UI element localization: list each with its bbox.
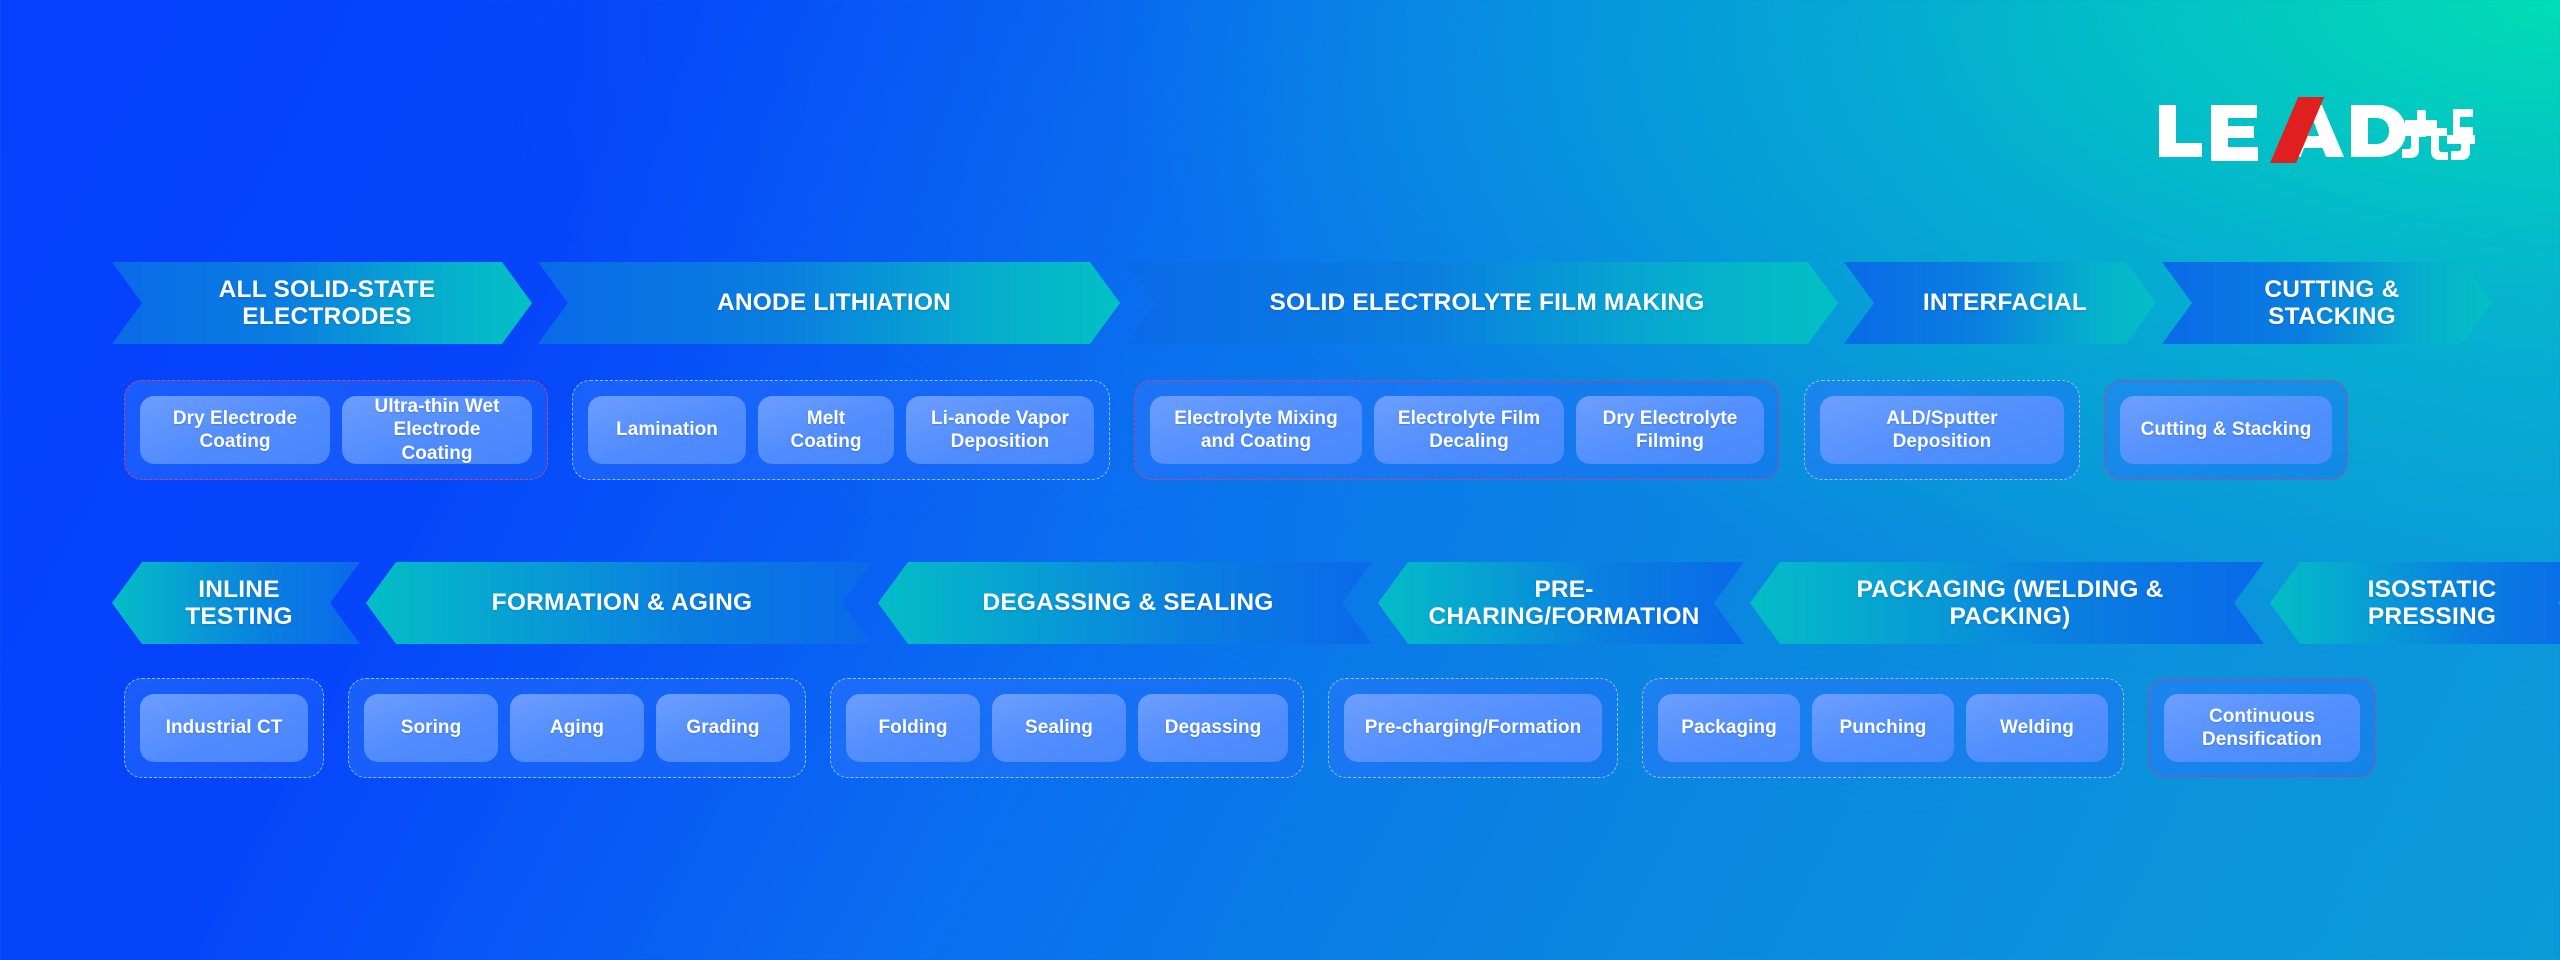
- stage-label: CUTTING & STACKING: [2208, 276, 2456, 331]
- process-card-label: Aging: [550, 716, 604, 739]
- process-card-folding[interactable]: Folding: [846, 694, 980, 762]
- process-card-label: Pre-charging/Formation: [1365, 716, 1581, 739]
- process-card-label: Lamination: [616, 418, 718, 441]
- process-group-packaging-welding-packing: PackagingPunchingWelding: [1642, 678, 2124, 778]
- process-group-solid-electrolyte-film-making: Electrolyte Mixing and CoatingElectrolyt…: [1134, 380, 1780, 480]
- process-card-cutting-stacking[interactable]: Cutting & Stacking: [2120, 396, 2332, 464]
- process-group-anode-lithiation: LaminationMelt CoatingLi-anode Vapor Dep…: [572, 380, 1110, 480]
- process-group-formation-aging: SoringAgingGrading: [348, 678, 806, 778]
- process-card-label: Welding: [2000, 716, 2074, 739]
- process-card-electrolyte-mixing-and-coating[interactable]: Electrolyte Mixing and Coating: [1150, 396, 1362, 464]
- stage-label: PRE-CHARING/FORMATION: [1424, 576, 1704, 631]
- process-card-label: Li-anode Vapor Deposition: [931, 407, 1069, 453]
- process-card-industrial-ct[interactable]: Industrial CT: [140, 694, 308, 762]
- process-card-welding[interactable]: Welding: [1966, 694, 2108, 762]
- process-card-label: Industrial CT: [166, 716, 283, 739]
- stage-label: INLINE TESTING: [158, 576, 320, 631]
- process-card-melt-coating[interactable]: Melt Coating: [758, 396, 894, 464]
- stage-label: ALL SOLID-STATE ELECTRODES: [158, 276, 496, 331]
- process-group-pre-charing-formation: Pre-charging/Formation: [1328, 678, 1618, 778]
- stage-chevron-all-solid-state-electrodes[interactable]: ALL SOLID-STATE ELECTRODES: [112, 262, 532, 344]
- stage-label: INTERFACIAL: [1923, 289, 2087, 316]
- process-group-degassing-sealing: FoldingSealingDegassing: [830, 678, 1304, 778]
- stage-chevron-formation-aging[interactable]: FORMATION & AGING: [366, 562, 872, 644]
- process-card-degassing[interactable]: Degassing: [1138, 694, 1288, 762]
- process-card-label: Degassing: [1165, 716, 1262, 739]
- process-group-row-2: Industrial CTSoringAgingGradingFoldingSe…: [124, 678, 2400, 778]
- process-card-electrolyte-film-decaling[interactable]: Electrolyte Film Decaling: [1374, 396, 1564, 464]
- process-card-punching[interactable]: Punching: [1812, 694, 1954, 762]
- process-card-pre-charging-formation[interactable]: Pre-charging/Formation: [1344, 694, 1602, 762]
- process-card-aging[interactable]: Aging: [510, 694, 644, 762]
- process-group-inline-testing: Industrial CT: [124, 678, 324, 778]
- process-card-ultra-thin-wet-electrode-coating[interactable]: Ultra-thin Wet Electrode Coating: [342, 396, 532, 464]
- process-card-packaging[interactable]: Packaging: [1658, 694, 1800, 762]
- stage-label: ISOSTATIC PRESSING: [2368, 576, 2497, 631]
- diagram-canvas: ALL SOLID-STATE ELECTRODESANODE LITHIATI…: [0, 0, 2560, 960]
- stage-label: PACKAGING (WELDING & PACKING): [1796, 576, 2224, 631]
- process-card-continuous-densification[interactable]: Continuous Densification: [2164, 694, 2360, 762]
- stage-label: ANODE LITHIATION: [717, 289, 951, 316]
- stage-band-row-2: INLINE TESTINGFORMATION & AGINGDEGASSING…: [112, 562, 2560, 644]
- process-card-label: Ultra-thin Wet Electrode Coating: [375, 395, 500, 465]
- process-card-label: ALD/Sputter Deposition: [1886, 407, 1997, 453]
- process-card-label: Dry Electrolyte Filming: [1603, 407, 1738, 453]
- process-card-grading[interactable]: Grading: [656, 694, 790, 762]
- process-card-label: Folding: [879, 716, 948, 739]
- process-card-label: Continuous Densification: [2202, 705, 2322, 751]
- process-card-soring[interactable]: Soring: [364, 694, 498, 762]
- stage-chevron-cutting-stacking[interactable]: CUTTING & STACKING: [2162, 262, 2492, 344]
- stage-band-row-1: ALL SOLID-STATE ELECTRODESANODE LITHIATI…: [112, 262, 2498, 344]
- process-card-label: Soring: [401, 716, 461, 739]
- stage-label: DEGASSING & SEALING: [982, 589, 1273, 616]
- stage-chevron-solid-electrolyte-film-making[interactable]: SOLID ELECTROLYTE FILM MAKING: [1126, 262, 1838, 344]
- process-card-label: Grading: [686, 716, 759, 739]
- process-card-label: Melt Coating: [790, 407, 861, 453]
- process-card-lamination[interactable]: Lamination: [588, 396, 746, 464]
- process-card-label: Electrolyte Film Decaling: [1398, 407, 1540, 453]
- stage-label: FORMATION & AGING: [492, 589, 753, 616]
- stage-chevron-pre-charing-formation[interactable]: PRE-CHARING/FORMATION: [1378, 562, 1744, 644]
- process-group-row-1: Dry Electrode CoatingUltra-thin Wet Elec…: [124, 380, 2372, 480]
- stage-chevron-packaging-welding-packing[interactable]: PACKAGING (WELDING & PACKING): [1750, 562, 2264, 644]
- process-card-label: Punching: [1840, 716, 1927, 739]
- process-card-label: Sealing: [1025, 716, 1093, 739]
- process-card-label: Electrolyte Mixing and Coating: [1174, 407, 1338, 453]
- process-card-label: Cutting & Stacking: [2141, 418, 2312, 441]
- process-card-li-anode-vapor-deposition[interactable]: Li-anode Vapor Deposition: [906, 396, 1094, 464]
- process-card-ald-sputter-deposition[interactable]: ALD/Sputter Deposition: [1820, 396, 2064, 464]
- lead-logo: [2155, 95, 2475, 165]
- lead-logo-mark: [2155, 97, 2475, 163]
- process-group-cutting-stacking: Cutting & Stacking: [2104, 380, 2348, 480]
- stage-chevron-anode-lithiation[interactable]: ANODE LITHIATION: [538, 262, 1120, 344]
- stage-chevron-isostatic-pressing[interactable]: ISOSTATIC PRESSING: [2270, 562, 2560, 644]
- process-card-dry-electrolyte-filming[interactable]: Dry Electrolyte Filming: [1576, 396, 1764, 464]
- stage-chevron-inline-testing[interactable]: INLINE TESTING: [112, 562, 360, 644]
- stage-label: SOLID ELECTROLYTE FILM MAKING: [1269, 289, 1704, 316]
- process-group-all-solid-state-electrodes: Dry Electrode CoatingUltra-thin Wet Elec…: [124, 380, 548, 480]
- process-card-dry-electrode-coating[interactable]: Dry Electrode Coating: [140, 396, 330, 464]
- stage-chevron-interfacial[interactable]: INTERFACIAL: [1844, 262, 2156, 344]
- stage-chevron-degassing-sealing[interactable]: DEGASSING & SEALING: [878, 562, 1372, 644]
- process-card-sealing[interactable]: Sealing: [992, 694, 1126, 762]
- process-group-isostatic-pressing: Continuous Densification: [2148, 678, 2376, 778]
- process-card-label: Packaging: [1681, 716, 1777, 739]
- process-card-label: Dry Electrode Coating: [173, 407, 297, 453]
- process-group-interfacial: ALD/Sputter Deposition: [1804, 380, 2080, 480]
